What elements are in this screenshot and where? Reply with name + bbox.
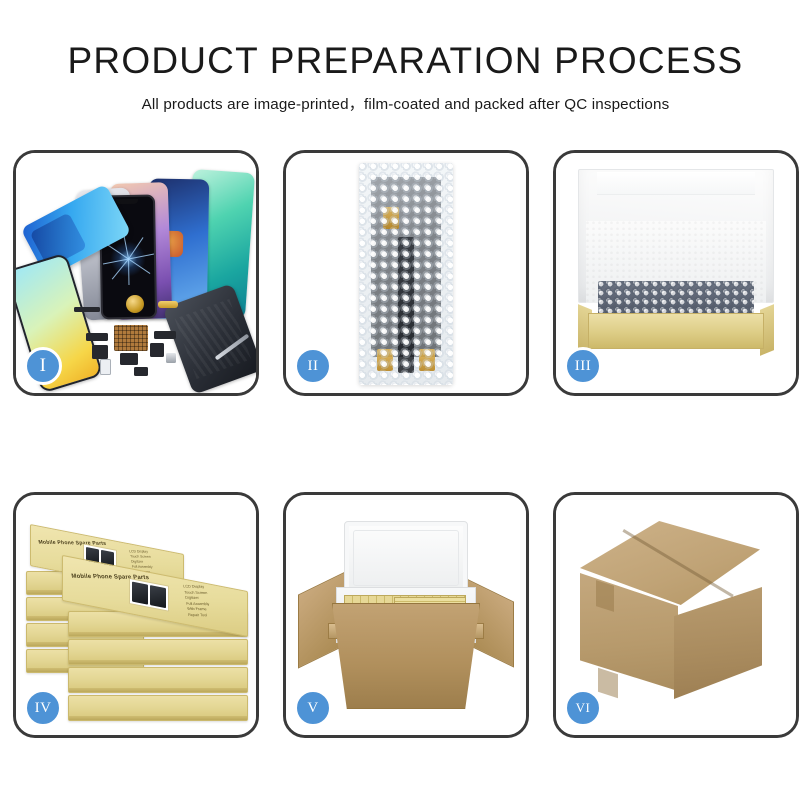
bubble-texture: [359, 163, 453, 385]
step-badge-6: VI: [564, 689, 602, 727]
stack-lid-front-window: [129, 578, 169, 612]
box-stack: Mobile Phone Spare Parts LCD DisplayTouc…: [26, 515, 246, 721]
open-carton: [298, 515, 514, 721]
part-sim-tray: [100, 359, 111, 375]
bubble-wrapped-contents: [598, 281, 754, 317]
box-front-panel: [588, 313, 764, 349]
part-flex-cable-right: [154, 331, 176, 339]
step-badge-1: I: [24, 347, 62, 385]
step-panel-5[interactable]: V: [283, 492, 529, 738]
part-camera-module: [92, 345, 108, 359]
page-title: PRODUCT PREPARATION PROCESS: [0, 42, 811, 81]
step-badge-5: V: [294, 689, 332, 727]
part-earpiece-mesh: [74, 307, 100, 312]
part-speaker-round: [126, 295, 144, 313]
carton-side-face: [674, 587, 762, 699]
sealed-carton: [574, 521, 780, 713]
part-chip-grid: [114, 325, 148, 351]
stack-box-fr-2: [68, 639, 248, 665]
page-subtitle: All products are image-printed，film-coat…: [0, 92, 811, 114]
step-panel-3[interactable]: III: [553, 150, 799, 396]
process-steps-grid: I II: [13, 150, 799, 738]
crack-icon: [108, 239, 149, 280]
stack-box-fr-3: [68, 667, 248, 693]
step-panel-4[interactable]: Mobile Phone Spare Parts LCD DisplayTouc…: [13, 492, 259, 738]
bubble-wrap-package: [359, 163, 453, 385]
step-panel-6[interactable]: VI: [553, 492, 799, 738]
step-panel-2[interactable]: II: [283, 150, 529, 396]
part-gold-connector: [158, 301, 178, 308]
carton-body: [332, 603, 480, 709]
stack-lid-front-specs: LCD DisplayTouch ScreenDigitizerFull Ass…: [183, 584, 212, 618]
part-screw-pack: [166, 353, 176, 363]
part-charging-port: [134, 367, 148, 376]
stack-box-fr-4: [68, 695, 248, 721]
product-preparation-page: PRODUCT PREPARATION PROCESS All products…: [0, 0, 811, 811]
step-badge-2: II: [294, 347, 332, 385]
step-panel-1[interactable]: I: [13, 150, 259, 396]
foam-box-lid: [344, 521, 468, 595]
carton-tape-lower: [598, 668, 618, 698]
phone-notch: [116, 199, 138, 204]
part-button-set: [120, 353, 138, 365]
box-lid-top-edge: [597, 172, 755, 195]
carton-tape-upper: [596, 580, 614, 612]
open-flat-box: [572, 169, 780, 359]
part-vibrator: [150, 343, 164, 357]
step-badge-4: IV: [24, 689, 62, 727]
part-flex-cable-left: [86, 333, 108, 341]
step-badge-3: III: [564, 347, 602, 385]
page-header: PRODUCT PREPARATION PROCESS All products…: [0, 0, 811, 114]
